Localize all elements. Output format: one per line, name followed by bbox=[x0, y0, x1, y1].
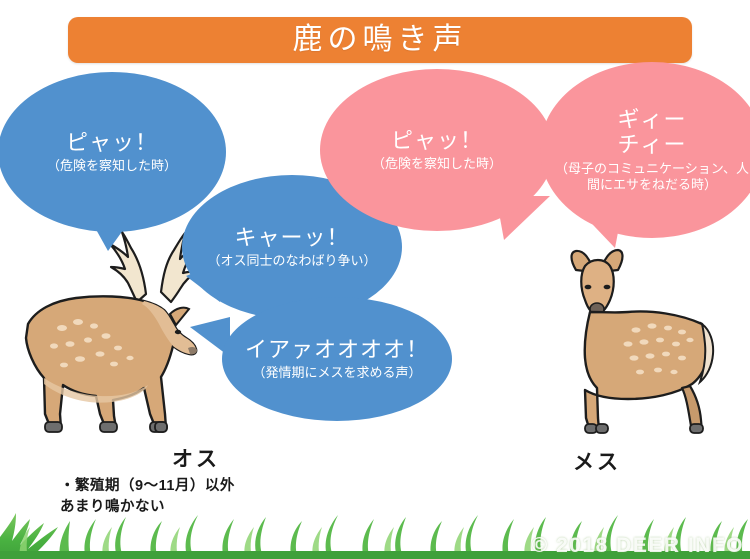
bubble-note-text: （オス同士のなわばり争い） bbox=[207, 253, 376, 269]
bubble-call-text: ピャッ！ bbox=[391, 128, 483, 154]
male-deer-label: オス bbox=[172, 443, 220, 473]
speech-bubble-female-alarm: ピャッ！ （危険を察知した時） bbox=[320, 69, 554, 231]
infographic-canvas: 鹿の鳴き声 bbox=[0, 0, 750, 559]
bubble-call-text-2: チィー bbox=[617, 132, 686, 158]
bubble-call-text: ギィー bbox=[617, 107, 686, 133]
speech-bubble-male-alarm: ピャッ！ （危険を察知した時） bbox=[0, 72, 226, 232]
bubble-note-text: （危険を察知した時） bbox=[372, 156, 502, 172]
bubble-call-text: イアァオオオオ！ bbox=[245, 337, 429, 363]
bubble-call-text: ピャッ！ bbox=[66, 130, 158, 156]
bubble-call-text: キャーッ！ bbox=[234, 225, 349, 251]
bubble-note-text: （母子のコミュニケーション、人間にエサをねだる時） bbox=[554, 161, 750, 194]
bubble-note-text: （危険を察知した時） bbox=[47, 158, 177, 174]
bubble-note-text: （発情期にメスを求める声） bbox=[252, 365, 421, 381]
female-deer-label: メス bbox=[573, 446, 621, 476]
grass-band: © 2018 DEER INFO bbox=[0, 507, 750, 559]
speech-bubble-male-rut: イアァオオオオ！ （発情期にメスを求める声） bbox=[222, 297, 452, 421]
copyright-watermark: © 2018 DEER INFO bbox=[532, 534, 744, 558]
speech-bubble-female-communication: ギィー チィー （母子のコミュニケーション、人間にエサをねだる時） bbox=[540, 62, 750, 238]
